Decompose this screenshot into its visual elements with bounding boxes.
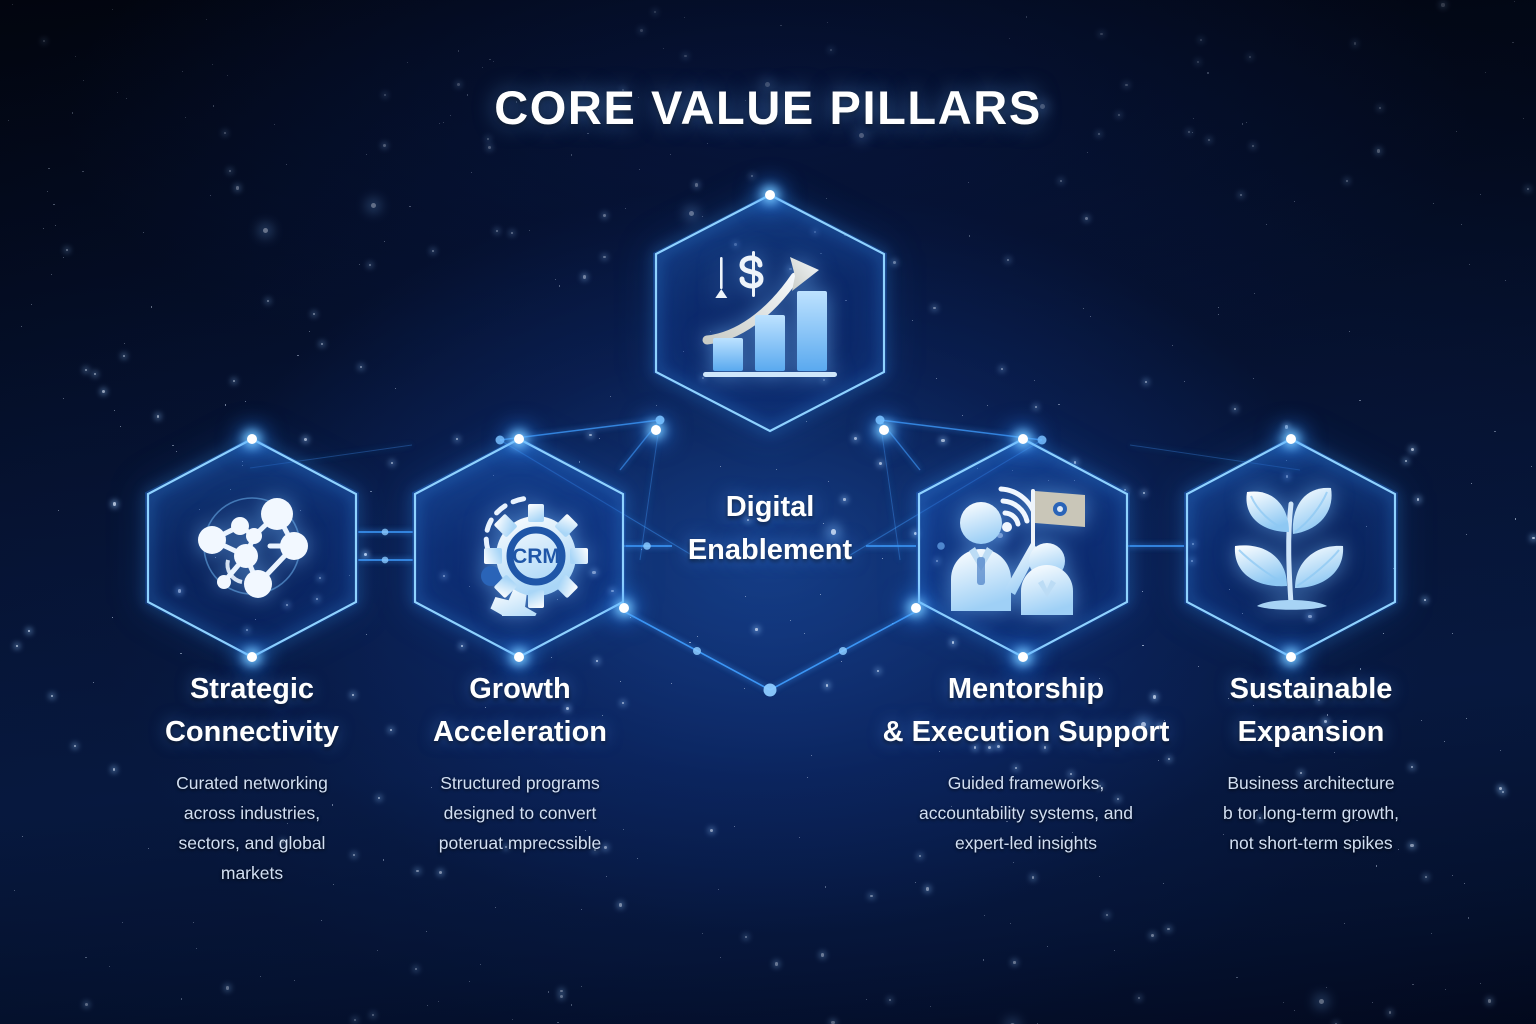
center-pillar-label: Digital Enablement	[620, 486, 920, 572]
pillar-description: Curated networking across industries, se…	[122, 768, 382, 888]
pillar-text-strategic-connectivity: Strategic Connectivity Curated networkin…	[122, 668, 382, 888]
hexagon-growth-acceleration[interactable]: CRM	[412, 437, 626, 659]
crm-gears-icon: CRM	[412, 437, 626, 659]
pillar-title: Sustainable Expansion	[1186, 668, 1436, 754]
growing-plant-icon	[1184, 437, 1398, 659]
pillar-description: Guided frameworks, accountability system…	[858, 768, 1194, 858]
pillar-description: Business architecture b tor long-term gr…	[1186, 768, 1436, 858]
pillar-text-growth-acceleration: Growth Acceleration Structured programs …	[392, 668, 648, 858]
hexagon-digital-enablement[interactable]	[653, 193, 887, 433]
hexagon-strategic-connectivity[interactable]	[145, 437, 359, 659]
hexagon-sustainable-expansion[interactable]	[1184, 437, 1398, 659]
pillar-text-sustainable-expansion: Sustainable Expansion Business architect…	[1186, 668, 1436, 858]
hexagon-mentorship-execution-support[interactable]	[916, 437, 1130, 659]
bar-chart-growth-arrow-icon	[653, 193, 887, 433]
pillar-title: Mentorship & Execution Support	[858, 668, 1194, 754]
infographic-canvas: CORE VALUE PILLARS	[0, 0, 1536, 1024]
mentor-mentee-flag-icon	[916, 437, 1130, 659]
page-title: CORE VALUE PILLARS	[0, 80, 1536, 135]
pillar-description: Structured programs designed to convert …	[392, 768, 648, 858]
crm-label: CRM	[512, 545, 560, 568]
pillar-title: Growth Acceleration	[392, 668, 648, 754]
pillar-title: Strategic Connectivity	[122, 668, 382, 754]
pillar-text-mentorship-execution-support: Mentorship & Execution Support Guided fr…	[858, 668, 1194, 858]
network-nodes-icon	[145, 437, 359, 659]
